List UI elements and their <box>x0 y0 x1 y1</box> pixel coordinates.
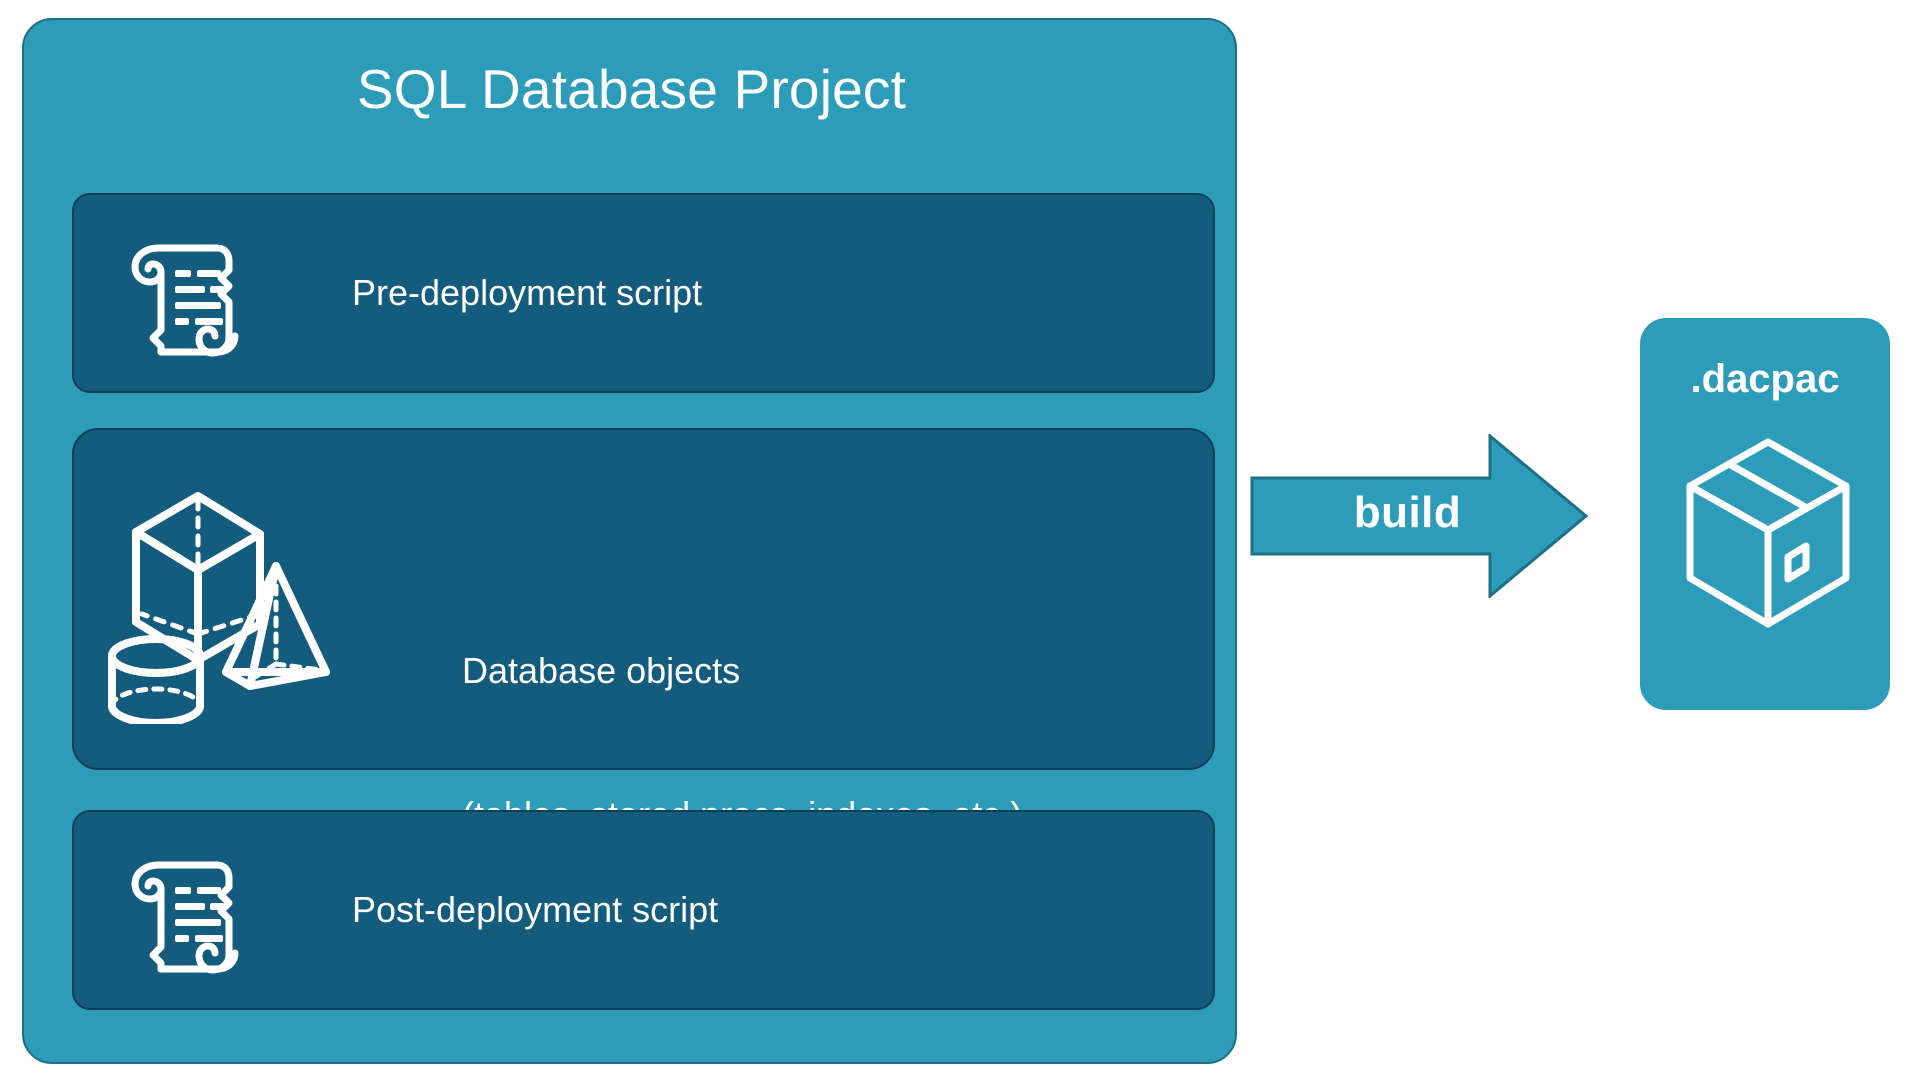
sql-database-project-panel: SQL Database Project <box>22 18 1237 1064</box>
card-pre-deployment-label: Pre-deployment script <box>352 269 702 317</box>
pyramid-shape <box>226 566 326 686</box>
dacpac-output-panel: .dacpac <box>1640 318 1890 710</box>
card-database-objects[interactable]: Database objects (tables, stored procs, … <box>72 428 1215 770</box>
3d-shapes-icon <box>88 430 358 768</box>
build-arrow-label: build <box>1305 484 1510 542</box>
card-database-objects-label: Database objects (tables, stored procs, … <box>462 551 1022 647</box>
scroll-icon <box>102 195 262 391</box>
card-post-deployment[interactable]: Post-deployment script <box>72 810 1215 1010</box>
diagram-canvas: SQL Database Project <box>0 0 1920 1080</box>
package-box-icon <box>1678 428 1858 663</box>
card-pre-deployment[interactable]: Pre-deployment script <box>72 193 1215 393</box>
card-database-objects-label-line1: Database objects <box>462 647 1022 695</box>
card-post-deployment-label: Post-deployment script <box>352 886 718 934</box>
page-title: SQL Database Project <box>24 58 1239 120</box>
scroll-icon <box>102 812 262 1008</box>
dacpac-label: .dacpac <box>1640 354 1890 404</box>
